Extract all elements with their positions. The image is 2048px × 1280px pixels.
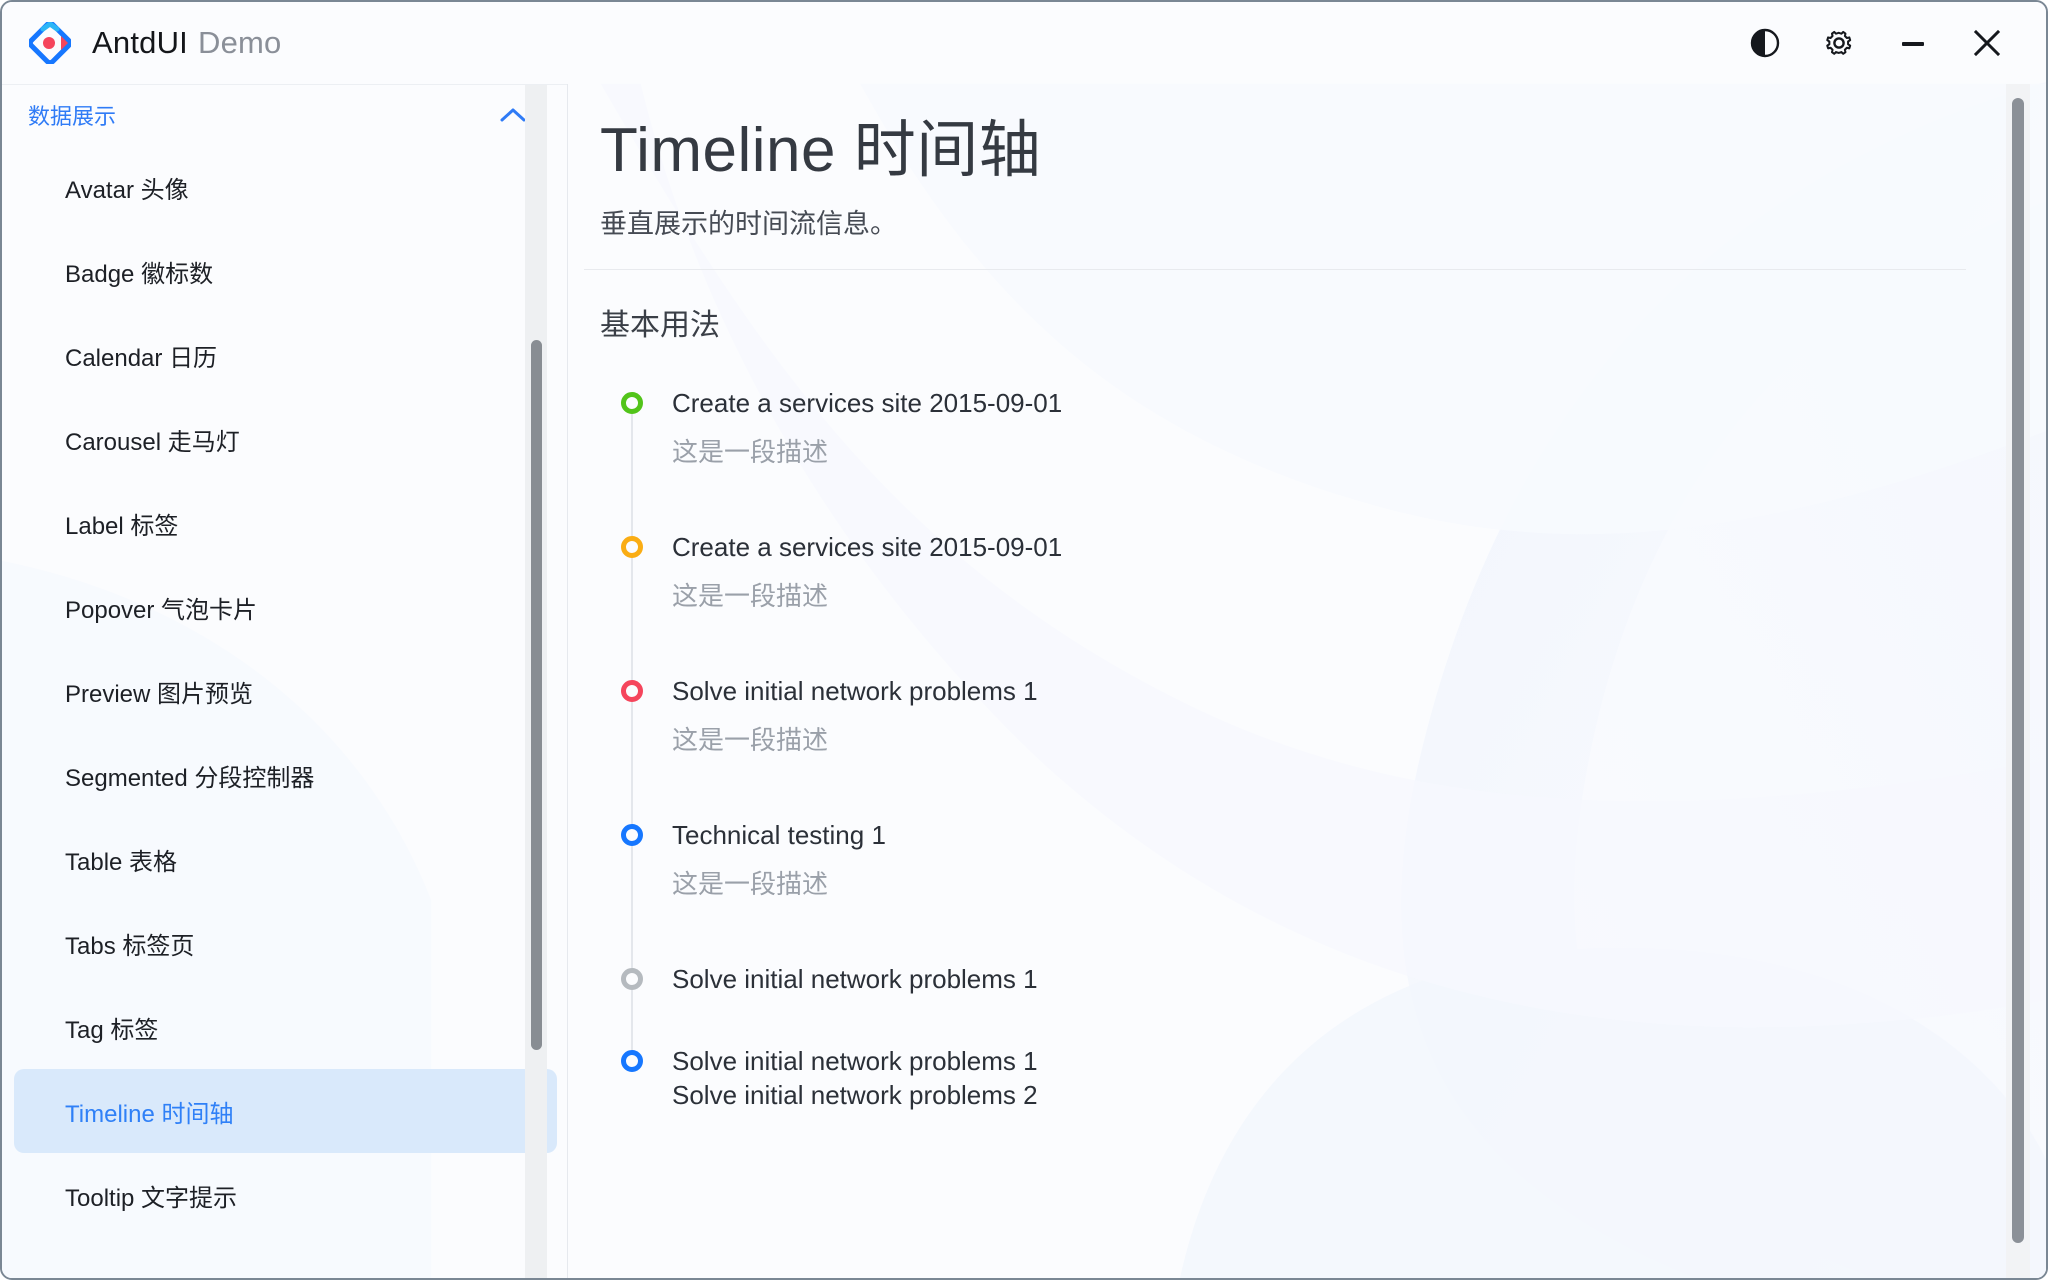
- sidebar-item-label: Badge 徽标数: [65, 254, 213, 289]
- timeline-item-description: 这是一段描述: [672, 868, 886, 902]
- timeline-dot-icon: [621, 968, 643, 990]
- timeline-item-body: Technical testing 1这是一段描述: [672, 818, 886, 902]
- sidebar-scrollbar-track[interactable]: [525, 85, 547, 1278]
- timeline-dot-icon: [621, 536, 643, 558]
- sidebar-item-10[interactable]: Tag 标签: [14, 985, 557, 1069]
- page-title: AntdUIDemo: [92, 25, 281, 61]
- timeline-dot-icon: [621, 824, 643, 846]
- timeline-connector: [631, 702, 633, 824]
- sidebar-item-1[interactable]: Badge 徽标数: [14, 229, 557, 313]
- timeline-item: Create a services site 2015-09-01这是一段描述: [610, 386, 1966, 470]
- titlebar: AntdUIDemo: [2, 2, 2046, 84]
- sidebar-item-0[interactable]: Avatar 头像: [14, 145, 557, 229]
- sidebar-item-label: Label 标签: [65, 506, 178, 541]
- timeline-dot-icon: [621, 680, 643, 702]
- minimize-button[interactable]: [1876, 2, 1950, 84]
- sidebar-item-label: Segmented 分段控制器: [65, 758, 314, 793]
- sidebar-item-label: Avatar 头像: [65, 170, 189, 205]
- chevron-up-icon[interactable]: [499, 106, 527, 124]
- timeline-item-body: Create a services site 2015-09-01这是一段描述: [672, 530, 1062, 614]
- sidebar-divider: [567, 84, 568, 1278]
- sidebar-item-label: Timeline 时间轴: [65, 1094, 233, 1129]
- timeline-item-description: 这是一段描述: [672, 724, 1038, 758]
- timeline-item-title: Solve initial network problems 1 Solve i…: [672, 1044, 1038, 1113]
- timeline-item: Create a services site 2015-09-01这是一段描述: [610, 530, 1966, 614]
- sidebar-group-label: 数据展示: [28, 99, 116, 131]
- sidebar-item-3[interactable]: Carousel 走马灯: [14, 397, 557, 481]
- timeline-item-title: Create a services site 2015-09-01: [672, 530, 1062, 564]
- main-scrollbar-track[interactable]: [2006, 84, 2030, 1278]
- timeline-item-body: Solve initial network problems 1这是一段描述: [672, 674, 1038, 758]
- app-title-sub: Demo: [198, 25, 282, 60]
- timeline-connector: [631, 846, 633, 968]
- sidebar-nav-list: Avatar 头像Badge 徽标数Calendar 日历Carousel 走马…: [2, 145, 567, 1237]
- timeline-item: Solve initial network problems 1: [610, 962, 1966, 1006]
- sidebar-item-11[interactable]: Timeline 时间轴: [14, 1069, 557, 1153]
- timeline-item-description: 这是一段描述: [672, 436, 1062, 470]
- header-divider: [584, 269, 1966, 270]
- sidebar-item-7[interactable]: Segmented 分段控制器: [14, 733, 557, 817]
- sidebar-item-4[interactable]: Label 标签: [14, 481, 557, 565]
- main-scrollbar-thumb[interactable]: [2012, 98, 2024, 1243]
- timeline-item-body: Create a services site 2015-09-01这是一段描述: [672, 386, 1062, 470]
- timeline-connector: [631, 558, 633, 680]
- sidebar-item-label: Popover 气泡卡片: [65, 590, 257, 625]
- timeline-item: Technical testing 1这是一段描述: [610, 818, 1966, 902]
- sidebar-item-12[interactable]: Tooltip 文字提示: [14, 1153, 557, 1237]
- timeline-dot-icon: [621, 1050, 643, 1072]
- settings-button[interactable]: [1802, 2, 1876, 84]
- timeline-item-title: Create a services site 2015-09-01: [672, 386, 1062, 420]
- timeline-item: Solve initial network problems 1 Solve i…: [610, 1044, 1966, 1113]
- antd-logo-icon: [28, 21, 72, 65]
- sidebar-item-label: Tag 标签: [65, 1010, 158, 1045]
- timeline: Create a services site 2015-09-01这是一段描述C…: [610, 386, 1966, 1113]
- theme-toggle-button[interactable]: [1728, 2, 1802, 84]
- timeline-dot-icon: [621, 392, 643, 414]
- app-title-brand: AntdUI: [92, 25, 188, 60]
- timeline-connector: [631, 414, 633, 536]
- sidebar-item-label: Table 表格: [65, 842, 177, 877]
- main-content: Timeline 时间轴 垂直展示的时间流信息。 基本用法 Create a s…: [568, 84, 2046, 1278]
- window-controls: [1728, 2, 2046, 84]
- sidebar-group-header[interactable]: 数据展示: [2, 85, 567, 145]
- section-title: 基本用法: [584, 300, 1966, 344]
- close-button[interactable]: [1950, 2, 2024, 84]
- timeline-item-description: 这是一段描述: [672, 580, 1062, 614]
- timeline-item-title: Solve initial network problems 1: [672, 674, 1038, 708]
- content-page-title: Timeline 时间轴: [584, 112, 1966, 190]
- sidebar-item-label: Calendar 日历: [65, 338, 217, 373]
- app-window: AntdUIDemo: [0, 0, 2048, 1280]
- content-page-description: 垂直展示的时间流信息。: [584, 202, 1966, 241]
- sidebar-item-label: Tabs 标签页: [65, 926, 194, 961]
- timeline-connector: [631, 990, 633, 1050]
- sidebar-item-label: Preview 图片预览: [65, 674, 253, 709]
- sidebar-item-label: Carousel 走马灯: [65, 422, 240, 457]
- timeline-item-body: Solve initial network problems 1 Solve i…: [672, 1044, 1038, 1113]
- sidebar-item-2[interactable]: Calendar 日历: [14, 313, 557, 397]
- timeline-item-title: Solve initial network problems 1: [672, 962, 1038, 996]
- sidebar-item-label: Tooltip 文字提示: [65, 1178, 237, 1213]
- sidebar-item-9[interactable]: Tabs 标签页: [14, 901, 557, 985]
- timeline-item-title: Technical testing 1: [672, 818, 886, 852]
- sidebar: 数据展示 Avatar 头像Badge 徽标数Calendar 日历Carous…: [2, 84, 567, 1278]
- timeline-item: Solve initial network problems 1这是一段描述: [610, 674, 1966, 758]
- sidebar-item-8[interactable]: Table 表格: [14, 817, 557, 901]
- timeline-item-body: Solve initial network problems 1: [672, 962, 1038, 1006]
- sidebar-scrollbar-thumb[interactable]: [531, 340, 542, 1050]
- sidebar-item-6[interactable]: Preview 图片预览: [14, 649, 557, 733]
- sidebar-item-5[interactable]: Popover 气泡卡片: [14, 565, 557, 649]
